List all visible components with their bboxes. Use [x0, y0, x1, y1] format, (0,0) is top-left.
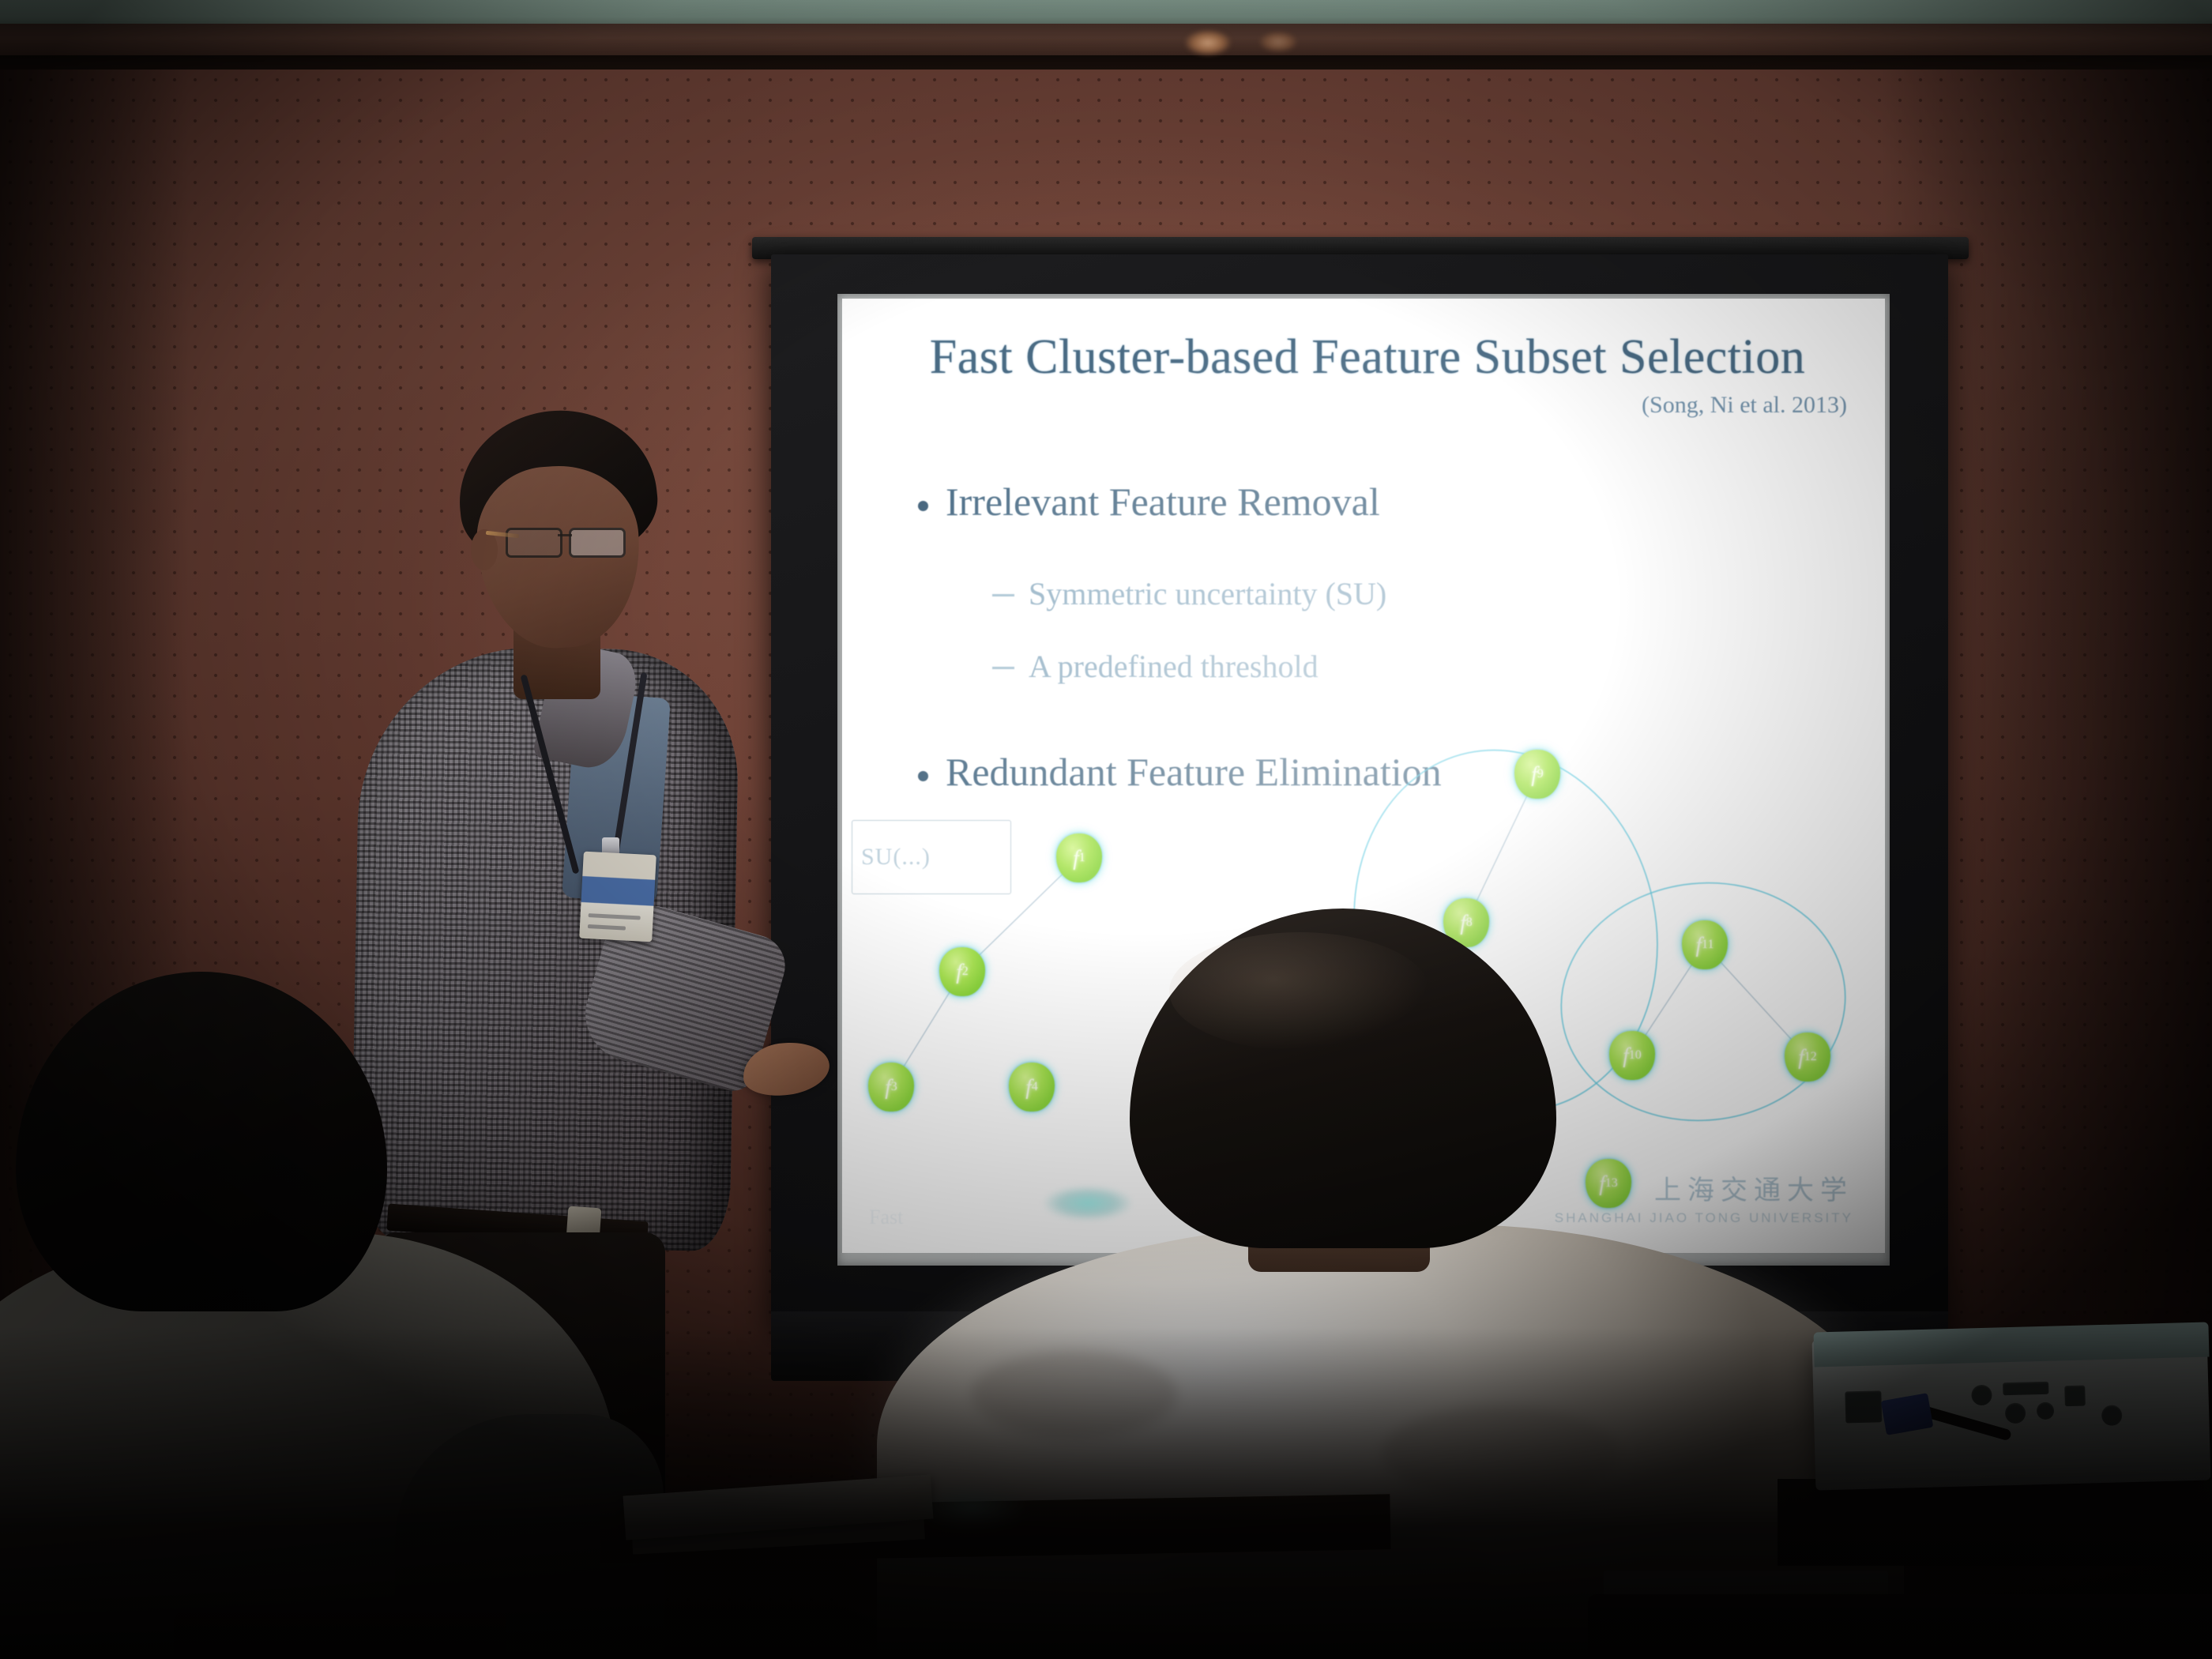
dash-icon: [992, 594, 1014, 596]
slide-footer-left: Fast: [869, 1206, 903, 1229]
eyeglasses-bridge: [558, 534, 572, 536]
dash-icon: [992, 667, 1014, 669]
badge-text-line: [589, 913, 641, 920]
sub-bullet-label: A predefined threshold: [1029, 648, 1319, 685]
badge-text-line: [588, 924, 626, 931]
bullet-label: Irrelevant Feature Removal: [946, 479, 1380, 525]
sub-bullet-1-2: A predefined threshold: [992, 648, 1319, 685]
hair-highlight: [1169, 932, 1430, 1051]
sub-bullet-1-1: Symmetric uncertainty (SU): [992, 575, 1386, 612]
slide-title: Fast Cluster-based Feature Subset Select…: [890, 332, 1845, 383]
presentation-room-photo: Fast Cluster-based Feature Subset Select…: [0, 0, 2212, 1659]
graph-node-f9: f9: [1514, 750, 1560, 799]
graph-node-f3: f3: [868, 1063, 914, 1112]
ceiling-light: [1259, 32, 1297, 52]
conference-badge: [579, 852, 656, 942]
eyeglasses-icon: [506, 526, 632, 556]
audience-left-hair: [16, 972, 387, 1311]
bullet-dot-icon: [918, 501, 928, 511]
graph-node-f1: f1: [1056, 833, 1102, 882]
ceiling-light: [1185, 30, 1231, 55]
slide-citation: (Song, Ni et al. 2013): [1642, 392, 1847, 419]
bullet-item-1: Irrelevant Feature Removal: [918, 479, 1380, 525]
sub-bullet-label: Symmetric uncertainty (SU): [1029, 575, 1386, 612]
foreground-shadow: [0, 1327, 2212, 1659]
